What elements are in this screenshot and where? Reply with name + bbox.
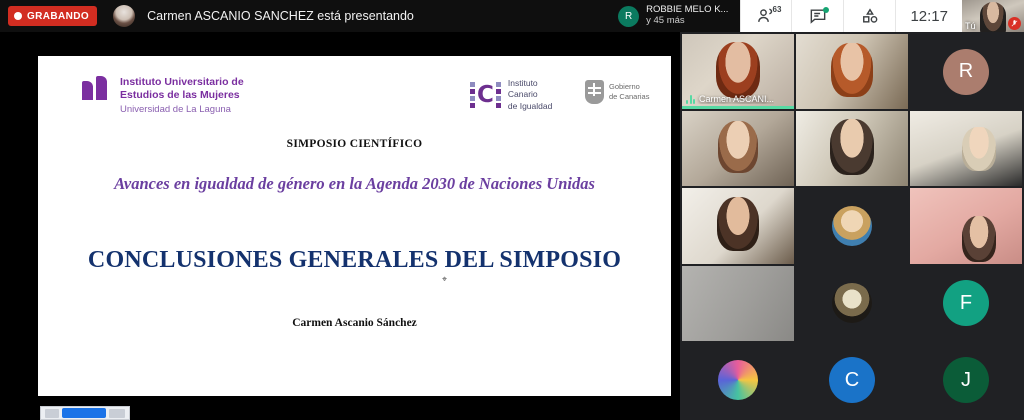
presentation-stage[interactable]: Instituto Universitario de Estudios de l…: [0, 32, 680, 420]
participant-avatar: R: [943, 49, 989, 95]
participant-tile[interactable]: Carmen ASCANI...: [682, 34, 794, 109]
strip-primary-button[interactable]: [62, 408, 106, 418]
participant-name: Carmen ASCANI...: [686, 94, 774, 104]
participant-tile[interactable]: [682, 188, 794, 263]
reactions-button[interactable]: [844, 0, 896, 32]
participant-video: [682, 266, 794, 341]
ici-line2: Canario: [508, 89, 552, 100]
record-dot-icon: [14, 12, 22, 20]
ull-line2: Estudios de las Mujeres: [120, 89, 244, 102]
speaking-indicator: [682, 106, 794, 109]
self-view-video: [980, 2, 1006, 33]
ici-line3: de Igualdad: [508, 101, 552, 112]
participant-avatar: F: [943, 280, 989, 326]
participant-face: [831, 43, 873, 97]
chat-button[interactable]: [792, 0, 844, 32]
gobierno-line1: Gobierno: [609, 82, 649, 92]
participant-tile[interactable]: [796, 266, 908, 341]
toolbar: 63 12:17: [740, 0, 962, 32]
participant-avatar: J: [943, 357, 989, 403]
active-speaker-chip[interactable]: R ROBBIE MELO K... y 45 más: [612, 5, 740, 26]
participant-face: [718, 121, 758, 173]
gobierno-line2: de Canarias: [609, 92, 649, 102]
participant-tile[interactable]: [910, 188, 1022, 263]
clock: 12:17: [896, 8, 962, 25]
participant-face: [830, 119, 874, 175]
shared-slide: Instituto Universitario de Estudios de l…: [38, 56, 671, 396]
slide-kicker: SIMPOSIO CIENTÍFICO: [38, 138, 671, 150]
chat-unread-dot-icon: [823, 7, 829, 13]
gobierno-canarias-logo: Gobierno de Canarias: [585, 80, 649, 104]
shapes-icon: [860, 6, 880, 26]
participant-avatar: [832, 283, 872, 323]
recording-badge[interactable]: GRABANDO: [8, 6, 97, 26]
participant-face: [716, 42, 760, 98]
pointer-mark-icon: ⌖: [442, 274, 447, 285]
slide-subtitle: Avances en igualdad de género en la Agen…: [38, 174, 671, 194]
ull-line3: Universidad de La Laguna: [120, 104, 244, 116]
participant-tile[interactable]: [682, 343, 794, 418]
ici-mark-icon: C: [470, 82, 501, 108]
participant-tile[interactable]: C Carmen ASCANIO SANCHEZ está mostrándos…: [796, 343, 908, 418]
ull-mark-icon: [82, 76, 112, 100]
slide-author: Carmen Ascanio Sánchez: [38, 317, 671, 329]
presenter-control-strip[interactable]: [40, 406, 130, 420]
audio-wave-icon: [686, 95, 695, 104]
slide-title: CONCLUSIONES GENERALES DEL SIMPOSIO: [38, 247, 671, 274]
presenter-avatar: [113, 5, 135, 27]
participant-avatar: [718, 360, 758, 400]
participant-tile[interactable]: R: [910, 34, 1022, 109]
active-speaker-avatar: R: [618, 6, 639, 27]
ici-line1: Instituto: [508, 78, 552, 89]
presenter-status: Carmen ASCANIO SANCHEZ está presentando: [147, 9, 414, 23]
meeting-window: GRABANDO Carmen ASCANIO SANCHEZ está pre…: [0, 0, 1024, 420]
ici-logo: C Instituto Canario de Igualdad: [470, 78, 552, 112]
strip-item-left[interactable]: [45, 409, 59, 418]
participant-avatar: [832, 206, 872, 246]
participant-grid: Carmen ASCANI... R: [680, 32, 1024, 420]
participant-face: [962, 216, 996, 262]
participant-tile[interactable]: [796, 34, 908, 109]
participant-tile[interactable]: [796, 188, 908, 263]
participants-button[interactable]: 63: [740, 0, 792, 32]
slide-logo-row: Instituto Universitario de Estudios de l…: [38, 56, 671, 124]
self-view-label: Tú: [965, 21, 976, 31]
participant-tile[interactable]: [910, 111, 1022, 186]
active-speaker-more: y 45 más: [646, 16, 728, 27]
participant-tile[interactable]: [796, 111, 908, 186]
self-view-tile[interactable]: Tú: [962, 0, 1024, 33]
mic-off-icon[interactable]: [1008, 17, 1021, 30]
participant-avatar: C: [829, 357, 875, 403]
participant-tile[interactable]: [682, 266, 794, 341]
participants-count: 63: [773, 5, 782, 14]
strip-item-right[interactable]: [109, 409, 125, 418]
participant-tile[interactable]: F: [910, 266, 1022, 341]
ull-line1: Instituto Universitario de: [120, 76, 244, 89]
participant-tile[interactable]: J: [910, 343, 1022, 418]
participant-tile[interactable]: [682, 111, 794, 186]
ull-logo: Instituto Universitario de Estudios de l…: [82, 76, 244, 116]
participant-face: [962, 127, 996, 171]
participant-face: [717, 197, 759, 251]
canary-shield-icon: [585, 80, 604, 104]
mic-off-glyph: [1010, 19, 1019, 28]
recording-label: GRABANDO: [27, 11, 89, 22]
top-bar: GRABANDO Carmen ASCANIO SANCHEZ está pre…: [0, 0, 1024, 32]
top-bar-right: R ROBBIE MELO K... y 45 más 63: [612, 0, 1024, 32]
